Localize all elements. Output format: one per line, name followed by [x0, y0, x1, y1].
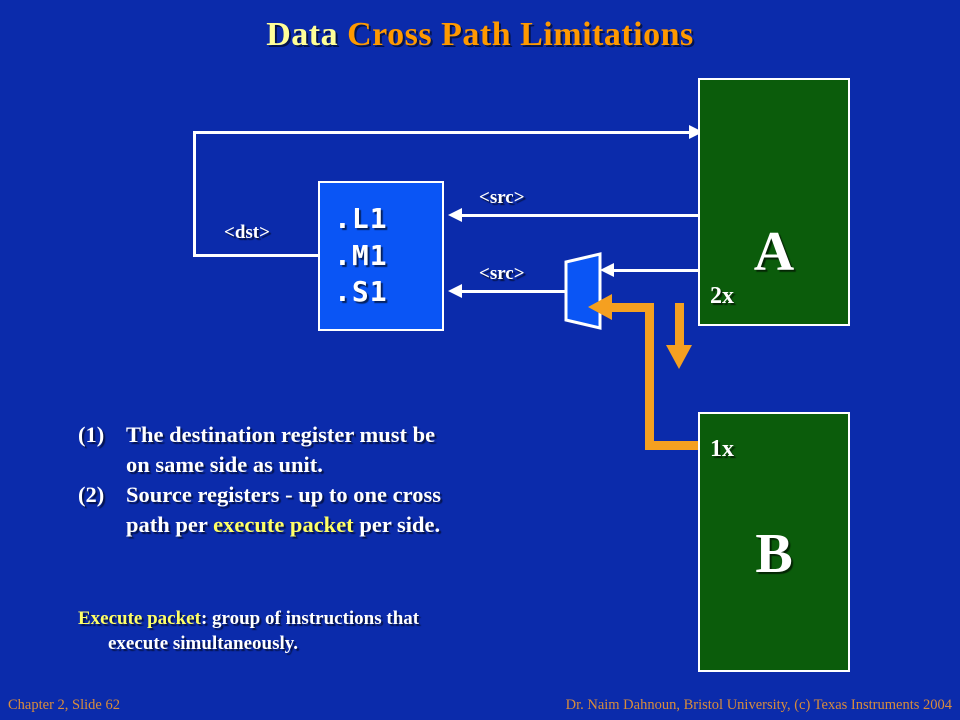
definition-note: Execute packet: group of instructions th…: [78, 606, 618, 657]
bullet-item-1: (1) The destination register must be on …: [78, 420, 618, 480]
bullet-2-line-1: Source registers - up to one cross: [126, 482, 441, 507]
register-file-a-multiplier: 2x: [710, 283, 734, 310]
footer-chapter-slide: Chapter 2, Slide 62: [8, 697, 120, 714]
register-file-b-multiplier: 1x: [710, 436, 734, 463]
cross-path-down-arrowhead-icon: [666, 345, 692, 369]
bullet-1-line-2: on same side as unit.: [126, 452, 323, 477]
bullet-item-2: (2) Source registers - up to one cross p…: [78, 480, 618, 540]
dst-wire-segment-horizontal-upper: [193, 131, 693, 134]
src-top-label: <src>: [479, 187, 525, 209]
unit-label-m1: .M1: [334, 238, 388, 275]
bullet-2-line-2-suffix: per side.: [354, 512, 440, 537]
bullet-2-line-2-prefix: path per: [126, 512, 213, 537]
dst-wire-segment-horizontal-lower: [193, 254, 321, 257]
cross-path-segment-to-mux: [610, 303, 654, 312]
unit-label-s1: .S1: [334, 274, 388, 311]
page-title: Data Cross Path Limitations: [0, 16, 960, 54]
note-rest: : group of instructions that: [201, 608, 419, 629]
bullet-list: (1) The destination register must be on …: [78, 420, 618, 540]
note-line-2: execute simultaneously.: [78, 631, 618, 656]
src-bottom-wire-to-unit: [462, 290, 566, 293]
register-file-b[interactable]: B 1x: [698, 412, 850, 672]
src-top-wire: [462, 214, 698, 217]
src-bottom-label: <src>: [479, 263, 525, 285]
functional-unit-box[interactable]: .L1 .M1 .S1: [318, 181, 444, 331]
cross-path-segment-vertical: [645, 303, 654, 450]
title-part-secondary: Cross Path Limitations: [347, 16, 694, 53]
bullet-number-2: (2): [78, 480, 126, 540]
dst-wire-segment-vertical: [193, 131, 196, 257]
title-part-primary: Data: [266, 16, 347, 53]
dst-label: <dst>: [224, 222, 270, 244]
unit-label-l1: .L1: [334, 201, 388, 238]
bullet-text-1: The destination register must be on same…: [126, 420, 618, 480]
src-top-arrowhead-icon: [448, 208, 462, 222]
bullet-text-2: Source registers - up to one cross path …: [126, 480, 618, 540]
cross-path-arrowhead-icon: [588, 294, 612, 320]
bullet-2-highlight: execute packet: [213, 512, 354, 537]
register-file-a-label: A: [700, 220, 848, 284]
src-bottom-arrowhead-unit-icon: [448, 284, 462, 298]
register-file-a[interactable]: A 2x: [698, 78, 850, 326]
cross-path-down-stub: [675, 303, 684, 347]
slide-canvas: Data Cross Path Limitations <dst> <src> …: [0, 0, 960, 720]
src-bottom-wire-from-a: [614, 269, 698, 272]
note-highlight-term: Execute packet: [78, 608, 201, 629]
bullet-number-1: (1): [78, 420, 126, 480]
bullet-1-line-1: The destination register must be: [126, 422, 435, 447]
register-file-b-label: B: [700, 522, 848, 586]
footer-attribution: Dr. Naim Dahnoun, Bristol University, (c…: [566, 697, 952, 714]
